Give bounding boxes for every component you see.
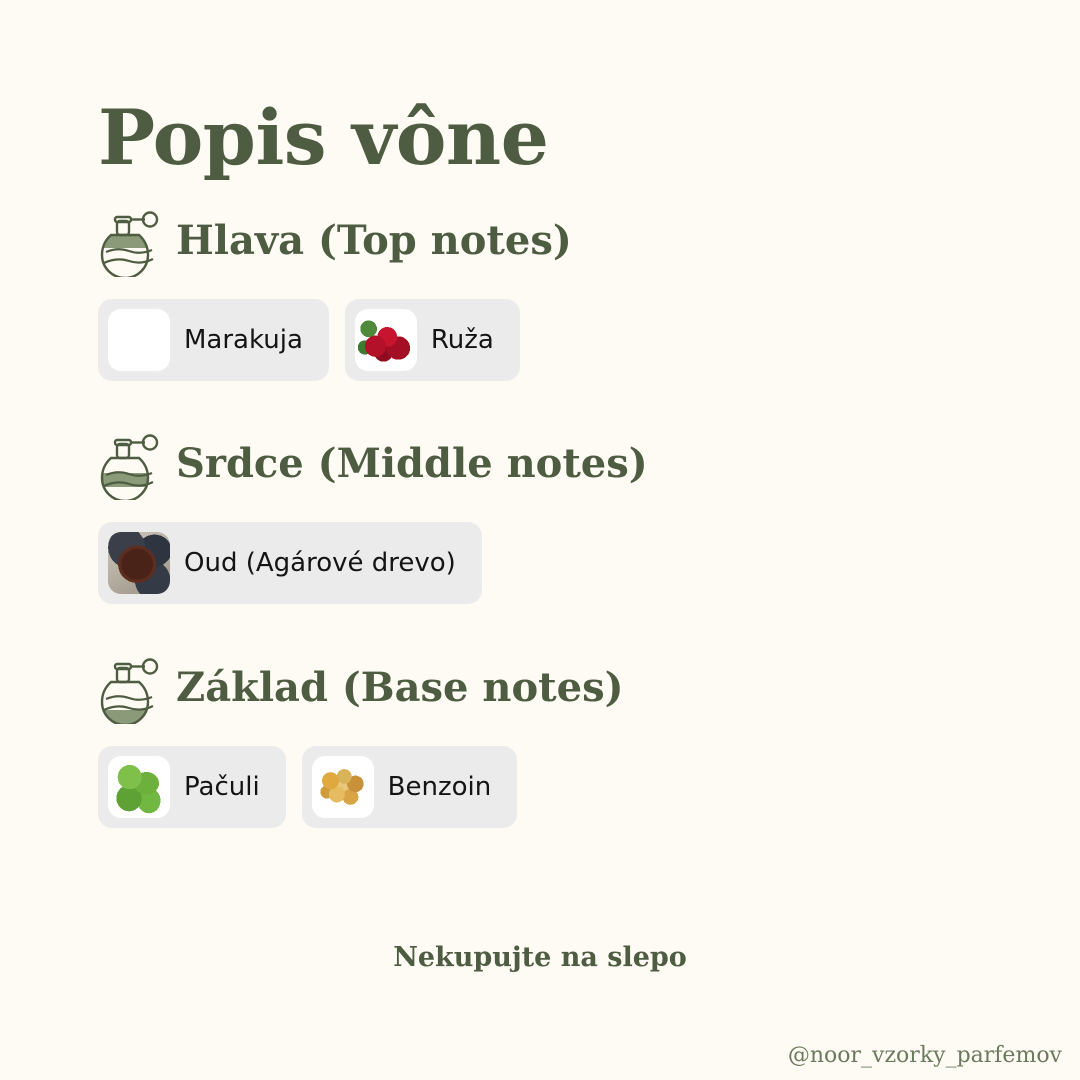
section-heading-row: Srdce (Middle notes): [98, 428, 648, 500]
benzoin-resin-photo: [312, 756, 374, 818]
perfume-bottle-icon: [98, 428, 160, 500]
note-chip-list: Oud (Agárové drevo): [98, 522, 648, 604]
note-chip[interactable]: Oud (Agárové drevo): [98, 522, 482, 604]
note-label: Benzoin: [388, 774, 492, 800]
note-label: Pačuli: [184, 774, 260, 800]
rose-photo: [355, 309, 417, 371]
note-label: Oud (Agárové drevo): [184, 550, 456, 576]
section-heading: Hlava (Top notes): [176, 221, 572, 261]
section-heading-row: Hlava (Top notes): [98, 205, 572, 277]
note-chip-list: Marakuja Ruža: [98, 299, 572, 381]
section-middle-notes: Srdce (Middle notes) Oud (Agárové drevo): [98, 428, 648, 604]
note-chip[interactable]: Ruža: [345, 299, 520, 381]
perfume-bottle-icon: [98, 205, 160, 277]
oud-wood-photo: [108, 532, 170, 594]
patchouli-leaves-photo: [108, 756, 170, 818]
section-top-notes: Hlava (Top notes) Marakuja Ruža: [98, 205, 572, 381]
tagline: Nekupujte na slepo: [0, 942, 1080, 973]
poster-canvas: Popis vône Hla: [0, 0, 1080, 1080]
section-heading-row: Základ (Base notes): [98, 652, 624, 724]
note-chip[interactable]: Marakuja: [98, 299, 329, 381]
note-label: Marakuja: [184, 327, 303, 353]
section-heading: Srdce (Middle notes): [176, 444, 648, 484]
page-title: Popis vône: [98, 100, 549, 176]
note-chip-list: Pačuli Benzoin: [98, 746, 624, 828]
section-heading: Základ (Base notes): [176, 668, 624, 708]
passionfruit-photo: [108, 309, 170, 371]
note-label: Ruža: [431, 327, 494, 353]
section-base-notes: Základ (Base notes) Pačuli Benzoin: [98, 652, 624, 828]
note-chip[interactable]: Benzoin: [302, 746, 518, 828]
social-handle: @noor_vzorky_parfemov: [788, 1043, 1062, 1068]
note-chip[interactable]: Pačuli: [98, 746, 286, 828]
perfume-bottle-icon: [98, 652, 160, 724]
